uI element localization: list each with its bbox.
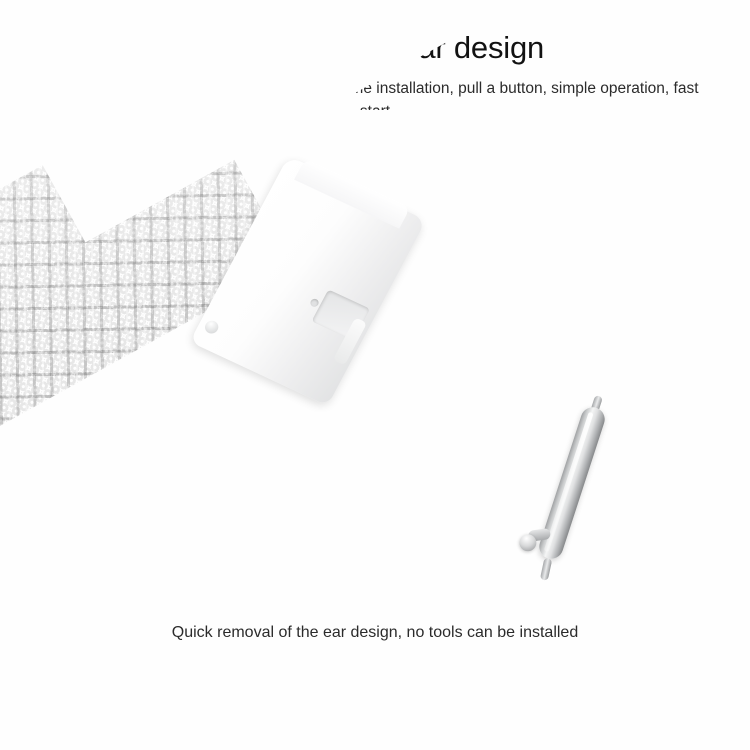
connector-end-pin bbox=[203, 319, 221, 336]
product-image bbox=[0, 150, 750, 620]
product-feature-banner: Quick release ear design Switch ear desi… bbox=[0, 0, 750, 750]
band-crop-right bbox=[352, 110, 750, 670]
footer-caption: Quick removal of the ear design, no tool… bbox=[0, 622, 750, 644]
